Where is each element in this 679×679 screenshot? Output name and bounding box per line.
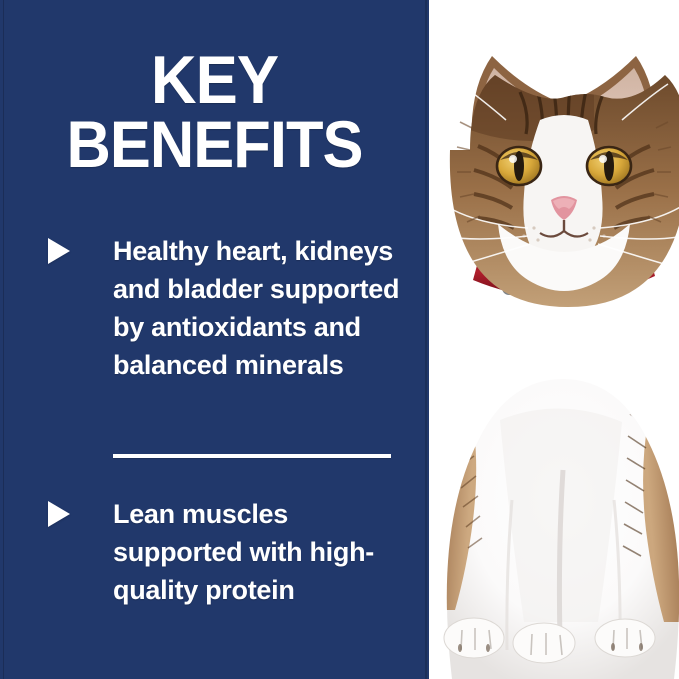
triangle-right-icon: [48, 238, 70, 264]
cat-photo: [429, 0, 679, 679]
page-title-line-1: KEY: [15, 48, 414, 112]
divider: [113, 454, 391, 458]
panel-left-edge: [3, 0, 4, 679]
page-title-line-2: BENEFITS: [15, 112, 414, 176]
cat-eye-right: [587, 147, 631, 185]
benefit-item-label: Healthy heart, kidneys and bladder suppo…: [113, 232, 413, 384]
triangle-right-icon: [48, 501, 70, 527]
page-title: KEY BENEFITS: [15, 48, 414, 176]
promo-graphic: KEY BENEFITS Healthy heart, kidneys and …: [0, 0, 679, 679]
cat-eye-left: [497, 147, 541, 185]
cat-paws: [444, 618, 655, 663]
panel-right-edge: [425, 0, 427, 679]
benefit-item-label: Lean muscles supported with high-quality…: [113, 495, 413, 609]
key-benefits-panel: KEY BENEFITS Healthy heart, kidneys and …: [0, 0, 429, 679]
